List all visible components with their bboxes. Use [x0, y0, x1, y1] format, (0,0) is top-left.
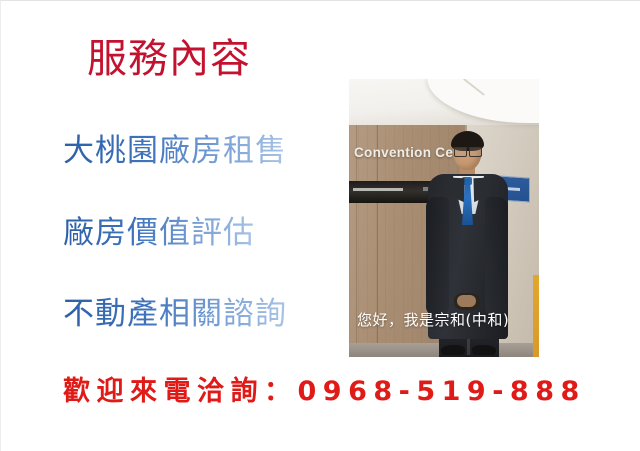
page-title: 服務內容 [87, 35, 251, 83]
display-band-highlight [353, 188, 403, 191]
person-glasses-lens-left [454, 147, 467, 157]
photo-caption: 您好，我是宗和(中和) [357, 310, 509, 330]
service-item-2: 廠房價值評估 [63, 213, 255, 253]
person-arm-left [426, 197, 449, 315]
yellow-edge-strip [533, 275, 539, 357]
person-hands-skin [457, 295, 476, 307]
person-shoe-left [441, 345, 465, 355]
convention-center-sign-text: Convention Ce [354, 145, 453, 160]
service-item-3: 不動產相關諮詢 [63, 294, 287, 334]
contact-phone-cta: 歡迎來電洽詢：0968-519-888 [63, 374, 586, 410]
person-arm-right [485, 197, 508, 315]
service-item-1: 大桃園廠房租售 [63, 131, 287, 171]
person-glasses-lens-right [469, 147, 482, 157]
person-shoe-right [472, 345, 496, 355]
slide-canvas: 服務內容 大桃園廠房租售 廠房價值評估 不動產相關諮詢 歡迎來電洽詢：0968-… [0, 0, 640, 451]
